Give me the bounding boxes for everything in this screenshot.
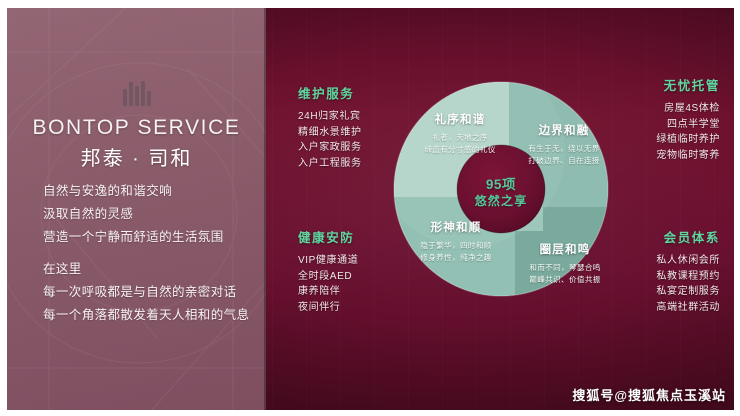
service-group-health: 健康安防 VIP健康通道全时段AED康养陪伴夜间伴行 <box>298 230 358 315</box>
source-watermark: 搜狐号@搜狐焦点玉溪站 <box>572 385 726 404</box>
service-item: 房屋4S体检 <box>656 101 720 117</box>
service-group-health-title: 健康安防 <box>298 230 358 246</box>
service-group-trust: 无忧托管 房屋4S体检四点半学堂绿植临时养护宠物临时寄养 <box>656 78 720 163</box>
brand-title-english: BONTOP SERVICE <box>7 116 266 140</box>
brand-copy-line: 汲取自然的灵感 <box>43 203 258 226</box>
service-group-member-items: 私人休闲会所私教课程预约私宴定制服务高端社群活动 <box>656 253 720 315</box>
page-edge-right <box>734 0 740 416</box>
service-item: 康养陪伴 <box>298 284 358 300</box>
service-item: 入户工程服务 <box>298 156 362 172</box>
brand-copy-block: 自然与安逸的和谐交响汲取自然的灵感营造一个宁静而舒适的生活氛围在这里每一次呼吸都… <box>43 180 258 327</box>
service-item: 私教课程预约 <box>656 269 720 285</box>
page-edge-top <box>0 0 740 8</box>
panel-edge-shadow <box>264 8 266 410</box>
service-group-health-items: VIP健康通道全时段AED康养陪伴夜间伴行 <box>298 253 358 315</box>
brand-copy-line: 在这里 <box>43 258 258 281</box>
service-item: 四点半学堂 <box>656 117 720 133</box>
pinwheel-diagram <box>391 79 611 299</box>
brand-title-chinese: 邦泰 · 司和 <box>7 142 266 171</box>
service-item: 绿植临时养护 <box>656 132 720 148</box>
slide-canvas: BONTOP SERVICE 邦泰 · 司和 自然与安逸的和谐交响汲取自然的灵感… <box>0 0 740 416</box>
service-group-member: 会员体系 私人休闲会所私教课程预约私宴定制服务高端社群活动 <box>656 230 720 315</box>
service-item: 高端社群活动 <box>656 300 720 316</box>
service-item: 24H归家礼宾 <box>298 109 362 125</box>
service-group-trust-title: 无忧托管 <box>656 78 720 94</box>
service-item: 私人休闲会所 <box>656 253 720 269</box>
bontop-logo-mark-icon <box>120 80 154 106</box>
service-item: 入户家政服务 <box>298 140 362 156</box>
brand-copy-line: 营造一个宁静而舒适的生活氛围 <box>43 226 258 249</box>
service-item: VIP健康通道 <box>298 253 358 269</box>
service-group-maintenance-items: 24H归家礼宾精细水景维护入户家政服务入户工程服务 <box>298 109 362 171</box>
service-item: 精细水景维护 <box>298 125 362 141</box>
service-group-trust-items: 房屋4S体检四点半学堂绿植临时养护宠物临时寄养 <box>656 101 720 163</box>
page-edge-bottom <box>0 410 740 416</box>
service-group-member-title: 会员体系 <box>656 230 720 246</box>
brand-copy-line: 每一次呼吸都是与自然的亲密对话 <box>43 281 258 304</box>
service-item: 宠物临时寄养 <box>656 148 720 164</box>
brand-copy-line: 自然与安逸的和谐交响 <box>43 180 258 203</box>
page-edge-left <box>0 0 7 416</box>
brand-copy-line: 每一个角落都散发着天人相和的气息 <box>43 304 258 327</box>
service-item: 私宴定制服务 <box>656 284 720 300</box>
service-group-maintenance: 维护服务 24H归家礼宾精细水景维护入户家政服务入户工程服务 <box>298 86 362 171</box>
left-brand-panel: BONTOP SERVICE 邦泰 · 司和 自然与安逸的和谐交响汲取自然的灵感… <box>7 8 266 410</box>
service-item: 全时段AED <box>298 269 358 285</box>
service-item: 夜间伴行 <box>298 300 358 316</box>
service-group-maintenance-title: 维护服务 <box>298 86 362 102</box>
